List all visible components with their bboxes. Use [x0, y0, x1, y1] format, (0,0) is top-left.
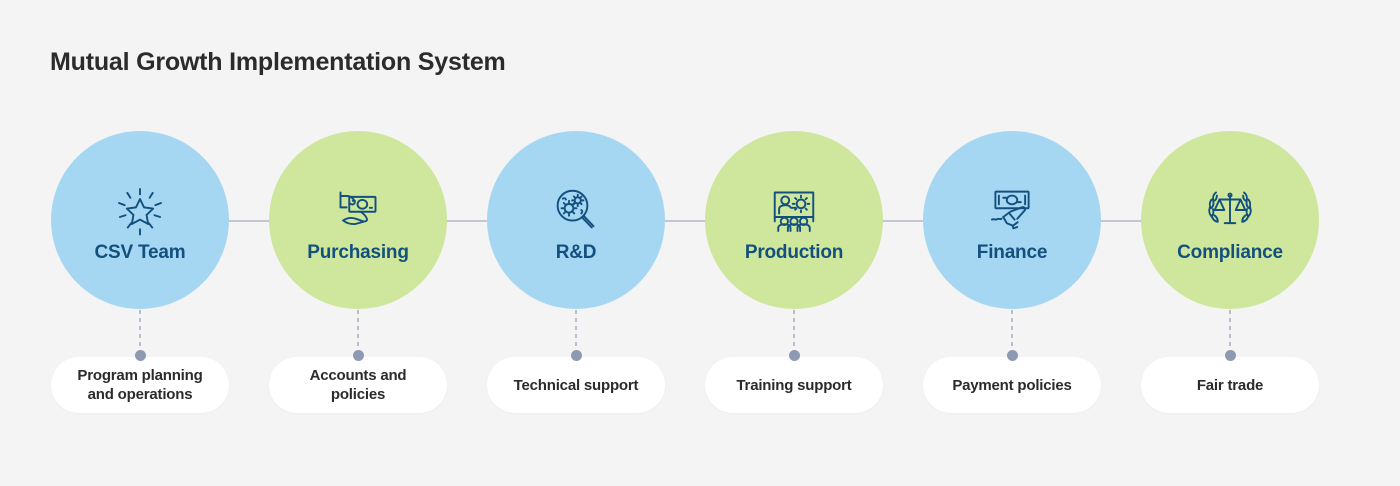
node-label-csv-team: CSV Team	[95, 242, 186, 264]
magnifier-gears-icon	[548, 182, 604, 238]
caption-line: Fair trade	[1197, 377, 1263, 394]
stem-dot-purchasing	[353, 350, 364, 361]
caption-pill-purchasing[interactable]: Accounts and policies	[269, 357, 447, 413]
node-circle-production[interactable]: Production	[705, 131, 883, 309]
caption-pill-production[interactable]: Training support	[705, 357, 883, 413]
caption-pill-rnd[interactable]: Technical support	[487, 357, 665, 413]
training-presentation-icon	[766, 182, 822, 238]
node-circle-finance[interactable]: Finance	[923, 131, 1101, 309]
stem-dot-rnd	[571, 350, 582, 361]
stem-finance	[1011, 310, 1013, 355]
process-flow-diagram: CSV Team Program planning and operations…	[0, 0, 1400, 486]
caption-text-csv-team: Program planning and operations	[63, 366, 216, 404]
caption-line: Technical support	[514, 377, 639, 394]
node-label-production: Production	[745, 242, 843, 264]
stem-rnd	[575, 310, 577, 355]
caption-text-production: Training support	[722, 376, 865, 395]
stem-dot-csv-team	[135, 350, 146, 361]
node-label-finance: Finance	[977, 242, 1047, 264]
stem-dot-finance	[1007, 350, 1018, 361]
node-circle-rnd[interactable]: R&D	[487, 131, 665, 309]
caption-text-purchasing: Accounts and policies	[296, 366, 421, 404]
caption-pill-csv-team[interactable]: Program planning and operations	[51, 357, 229, 413]
hand-money-exchange-icon	[330, 182, 386, 238]
caption-line: policies	[331, 386, 385, 403]
caption-line: and operations	[88, 386, 193, 403]
stem-compliance	[1229, 310, 1231, 355]
caption-text-compliance: Fair trade	[1183, 376, 1277, 395]
node-circle-purchasing[interactable]: Purchasing	[269, 131, 447, 309]
cheque-signing-icon	[984, 182, 1040, 238]
stem-dot-compliance	[1225, 350, 1236, 361]
caption-pill-compliance[interactable]: Fair trade	[1141, 357, 1319, 413]
node-circle-compliance[interactable]: Compliance	[1141, 131, 1319, 309]
caption-line: Program planning	[77, 367, 202, 384]
node-circle-csv-team[interactable]: CSV Team	[51, 131, 229, 309]
caption-text-finance: Payment policies	[938, 376, 1085, 395]
star-burst-icon	[112, 182, 168, 238]
caption-line: Payment policies	[952, 377, 1071, 394]
caption-line: Training support	[736, 377, 851, 394]
caption-line: Accounts and	[310, 367, 407, 384]
stem-purchasing	[357, 310, 359, 355]
scales-laurel-icon	[1202, 182, 1258, 238]
stem-production	[793, 310, 795, 355]
caption-text-rnd: Technical support	[500, 376, 653, 395]
stem-dot-production	[789, 350, 800, 361]
caption-pill-finance[interactable]: Payment policies	[923, 357, 1101, 413]
node-label-purchasing: Purchasing	[307, 242, 408, 264]
stem-csv-team	[139, 310, 141, 355]
node-label-rnd: R&D	[556, 242, 597, 264]
node-label-compliance: Compliance	[1177, 242, 1283, 264]
